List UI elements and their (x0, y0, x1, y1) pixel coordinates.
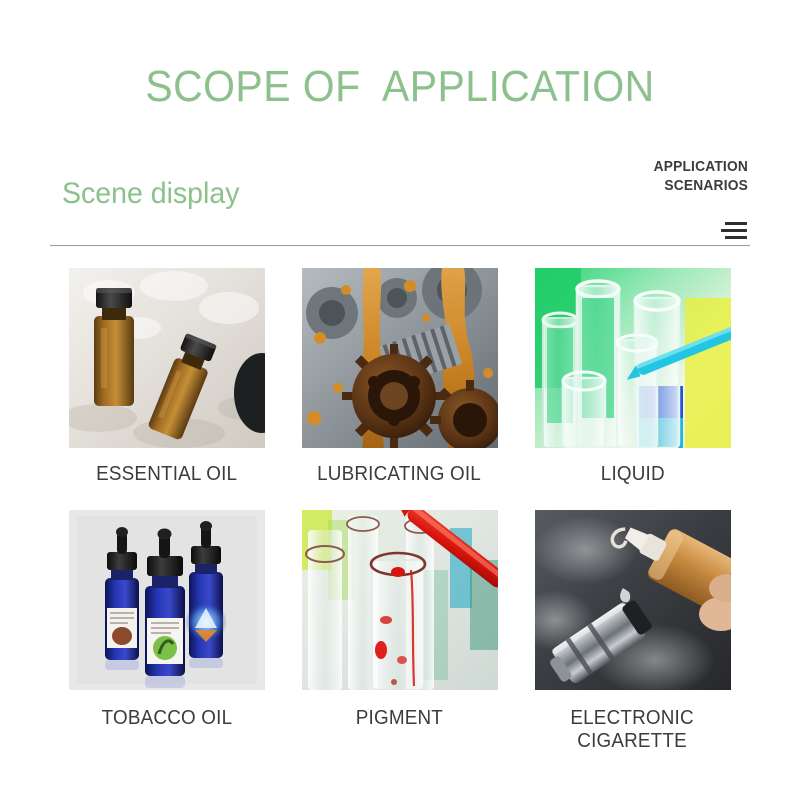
section-subtitle: Scene display (62, 177, 239, 211)
gallery-item-label: ELECTRONIC CIGARETTE (571, 706, 694, 753)
gallery-item-label: TOBACCO OIL (101, 706, 232, 730)
hamburger-icon[interactable] (721, 222, 747, 242)
gallery-row-2: TOBACCO OIL (50, 510, 750, 753)
gallery-item-electronic-cigarette[interactable]: ELECTRONIC CIGARETTE (516, 510, 749, 753)
gallery-item-label: ESSENTIAL OIL (96, 462, 237, 486)
gallery-item-essential-oil[interactable]: ESSENTIAL OIL (50, 268, 283, 486)
hamburger-bar-top (725, 222, 747, 225)
gallery-item-label: PIGMENT (356, 706, 443, 730)
liquid-image (535, 268, 731, 448)
tobacco-oil-image (69, 510, 265, 690)
essential-oil-image (69, 268, 265, 448)
gallery-item-label: LUBRICATING OIL (318, 462, 482, 486)
hamburger-bar-middle (721, 229, 747, 232)
gallery-item-label: LIQUID (601, 462, 665, 486)
gallery-row-1: ESSENTIAL OIL (50, 268, 750, 486)
pigment-image (302, 510, 498, 690)
electronic-cigarette-image (535, 510, 731, 690)
gallery-item-tobacco-oil[interactable]: TOBACCO OIL (50, 510, 283, 753)
gallery-item-lubricating-oil[interactable]: LUBRICATING OIL (283, 268, 516, 486)
header-divider (50, 245, 750, 246)
application-scenarios-label: APPLICATION SCENARIOS (568, 158, 749, 196)
lubricating-oil-image (302, 268, 498, 448)
page-title: SCOPE OF APPLICATION (28, 62, 772, 112)
gallery-item-liquid[interactable]: LIQUID (516, 268, 749, 486)
gallery-item-pigment[interactable]: PIGMENT (283, 510, 516, 753)
scene-gallery-grid: ESSENTIAL OIL (50, 268, 750, 753)
hamburger-bar-bottom (725, 236, 747, 239)
